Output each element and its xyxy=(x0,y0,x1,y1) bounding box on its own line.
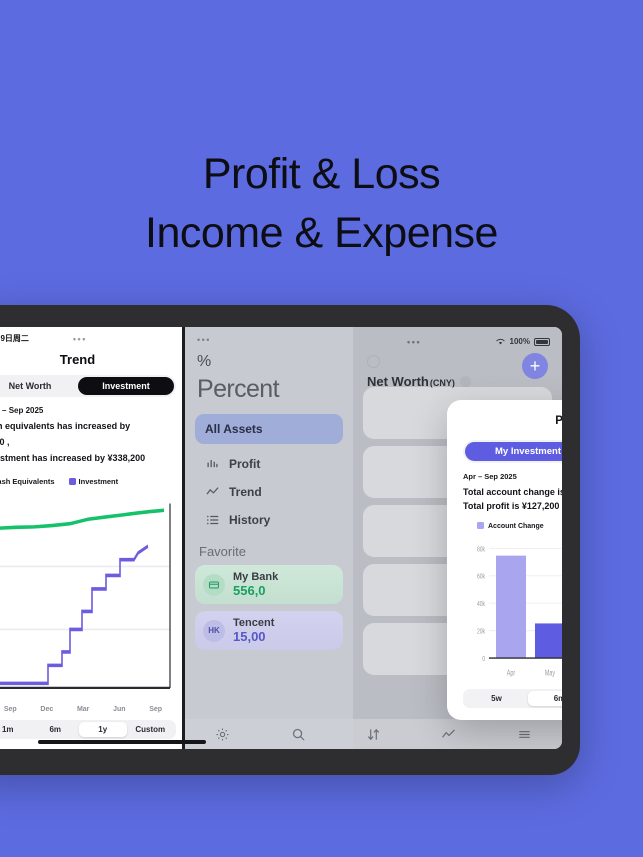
eye-toggle-icon[interactable] xyxy=(460,376,471,387)
bar-chart-icon xyxy=(205,457,220,471)
left-segmented-control[interactable]: Net Worth Investment xyxy=(0,375,176,397)
home-indicator xyxy=(38,740,206,744)
left-pane: 1月9日周二 ••• ck Trend Net Worth Investment… xyxy=(0,327,185,749)
svg-text:0: 0 xyxy=(482,655,485,663)
range-button-custom[interactable]: Custom xyxy=(127,722,175,737)
svg-text:Apr: Apr xyxy=(507,670,516,678)
left-line-chart xyxy=(0,490,178,706)
range-button-1y[interactable]: 1y xyxy=(79,722,127,737)
battery-percent: 100% xyxy=(510,337,530,346)
hk-badge-icon: HK xyxy=(203,620,225,642)
modal-range-selector[interactable]: 5w 6m 1y 4y xyxy=(463,689,562,708)
left-multitask-dots[interactable]: ••• xyxy=(73,334,87,344)
x-label-2: Mar xyxy=(77,706,89,713)
app-bottom-toolbar xyxy=(185,719,562,749)
modal-summary-line-2: Total profit is ¥127,200 xyxy=(463,500,562,514)
sidebar-item-profit[interactable]: Profit xyxy=(195,450,343,478)
modal-chart-legend: Account Change Open P&L xyxy=(477,522,562,530)
x-label-3: Jun xyxy=(113,706,125,713)
left-summary-line-2: 4,000 , xyxy=(0,436,174,449)
battery-icon xyxy=(534,338,550,346)
status-right: 100% xyxy=(495,337,550,346)
legend-cash-equivalents: Cash Equivalents xyxy=(0,477,55,486)
svg-text:40k: 40k xyxy=(477,600,486,608)
modal-summary-line-1: Total account change is ¥140,600 , xyxy=(463,486,562,500)
sidebar-label-trend: Trend xyxy=(229,485,262,499)
svg-text:20k: 20k xyxy=(477,628,486,636)
sidebar-multitask-dots[interactable]: ••• xyxy=(195,335,343,347)
left-navbar: ck Trend xyxy=(0,346,182,375)
legend-swatch-account-change-icon xyxy=(477,522,484,529)
left-summary-line-1: cash equivalents has increased by xyxy=(0,420,174,433)
x-label-1: Dec xyxy=(40,706,53,713)
segment-investment[interactable]: Investment xyxy=(78,377,174,395)
app-multitask-dots[interactable]: ••• xyxy=(407,337,421,347)
left-status-date: 1月9日周二 xyxy=(0,333,29,344)
search-icon[interactable] xyxy=(260,727,335,742)
tablet-screen: 1月9日周二 ••• ck Trend Net Worth Investment… xyxy=(0,327,562,749)
tablet-device: 1月9日周二 ••• ck Trend Net Worth Investment… xyxy=(0,305,580,775)
sidebar-heading: Percent xyxy=(195,373,343,414)
left-line-chart-svg xyxy=(0,490,178,706)
legend-investment: Investment xyxy=(69,477,119,486)
profit-loss-modal: Profit & Loss My Investment My Liquidity… xyxy=(447,400,562,720)
hero-line-1: Profit & Loss xyxy=(0,145,643,204)
favorite-amount-tencent: 15,00 xyxy=(233,629,274,644)
sidebar-label-profit: Profit xyxy=(229,457,260,471)
card-icon xyxy=(203,574,225,596)
segment-net-worth[interactable]: Net Worth xyxy=(0,377,78,395)
hero-heading: Profit & Loss Income & Expense xyxy=(0,145,643,264)
sidebar-item-all-assets[interactable]: All Assets xyxy=(195,414,343,444)
sidebar-item-trend[interactable]: Trend xyxy=(195,478,343,506)
range-button-1m[interactable]: 1m xyxy=(0,722,32,737)
legend-label-investment: Investment xyxy=(79,477,119,486)
left-chart-legend: Cash Equivalents Investment xyxy=(0,472,182,488)
list-icon xyxy=(205,513,220,527)
sidebar-label-history: History xyxy=(229,513,270,527)
app-pane: ••• % Percent All Assets Profit xyxy=(185,327,562,749)
legend-label-cash: Cash Equivalents xyxy=(0,477,55,486)
x-label-4: Sep xyxy=(149,706,162,713)
left-page-title: Trend xyxy=(0,352,172,367)
modal-bar-chart: 80k 60k 40k 20k 0 xyxy=(463,534,562,684)
app-status-bar: ••• 100% xyxy=(363,335,552,348)
legend-swatch-investment-icon xyxy=(69,478,76,485)
favorite-name-bank: My Bank xyxy=(233,571,278,583)
modal-header: Profit & Loss xyxy=(463,411,562,440)
favorite-item-bank[interactable]: My Bank 556,0 xyxy=(195,565,343,604)
sort-icon[interactable] xyxy=(336,727,411,742)
sidebar-item-history[interactable]: History xyxy=(195,506,343,534)
svg-text:May: May xyxy=(545,670,556,678)
left-range-selector[interactable]: 1m 6m 1y Custom xyxy=(0,720,176,739)
modal-title: Profit & Loss xyxy=(555,415,562,427)
modal-date-range: Apr – Sep 2025 xyxy=(463,472,562,481)
x-label-0: Sep xyxy=(4,706,17,713)
favorite-item-tencent[interactable]: HK Tencent 15,00 xyxy=(195,611,343,650)
tab-my-investment[interactable]: My Investment xyxy=(465,442,562,461)
left-summary-line-3: Investment has increased by ¥338,200 xyxy=(0,452,174,465)
svg-text:80k: 80k xyxy=(477,545,486,553)
left-date-range: 2024 – Sep 2025 xyxy=(0,406,174,415)
legend-label-account-change: Account Change xyxy=(488,523,544,530)
left-chart-x-labels: Sep Dec Mar Jun Sep xyxy=(0,706,182,716)
wifi-icon xyxy=(495,337,506,346)
modal-range-button-6m[interactable]: 6m xyxy=(528,691,562,706)
line-chart-icon xyxy=(205,485,220,499)
hero-line-2: Income & Expense xyxy=(0,204,643,263)
svg-text:60k: 60k xyxy=(477,573,486,581)
trend-icon[interactable] xyxy=(411,727,486,742)
favorite-name-tencent: Tencent xyxy=(233,617,274,629)
menu-icon[interactable] xyxy=(487,727,562,742)
left-summary: 2024 – Sep 2025 cash equivalents has inc… xyxy=(0,405,182,472)
net-worth-circle-icon xyxy=(367,355,380,368)
modal-bar-chart-svg: 80k 60k 40k 20k 0 xyxy=(463,534,562,684)
left-status-bar: 1月9日周二 ••• xyxy=(0,327,182,346)
range-button-6m[interactable]: 6m xyxy=(32,722,80,737)
add-account-button[interactable]: + xyxy=(522,353,548,379)
sidebar-favorite-label: Favorite xyxy=(195,534,343,565)
modal-tabs[interactable]: My Investment My Liquidity xyxy=(463,440,562,463)
modal-range-button-5w[interactable]: 5w xyxy=(465,691,528,706)
legend-account-change: Account Change xyxy=(477,522,544,530)
favorite-amount-bank: 556,0 xyxy=(233,583,278,598)
app-sidebar: ••• % Percent All Assets Profit xyxy=(185,327,353,749)
percent-symbol: % xyxy=(195,347,343,373)
